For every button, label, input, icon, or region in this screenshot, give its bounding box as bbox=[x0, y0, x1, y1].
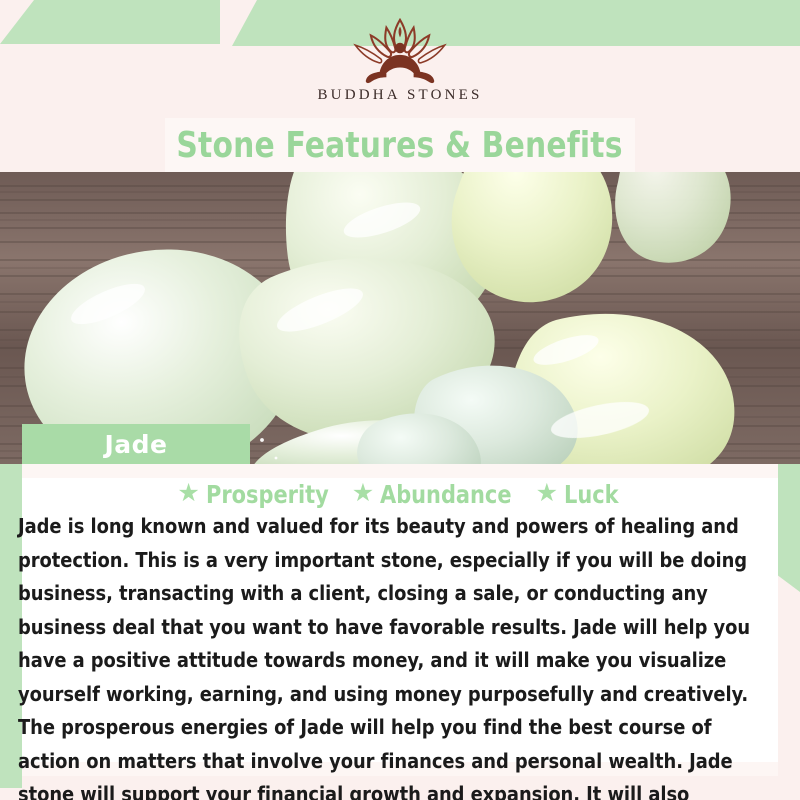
stone-name-label: Jade bbox=[104, 430, 167, 459]
infographic-page: BUDDHA STONES Stone Features & Benefits bbox=[0, 0, 800, 800]
stone-name-band: Jade bbox=[22, 424, 250, 464]
benefits-row: ★ Prosperity ★ Abundance ★ Luck bbox=[22, 478, 778, 510]
benefit-item-abundance: ★ Abundance bbox=[352, 480, 522, 509]
page-title: Stone Features & Benefits bbox=[177, 125, 623, 166]
benefit-item-prosperity: ★ Prosperity bbox=[177, 480, 337, 509]
header-banner: Stone Features & Benefits bbox=[165, 118, 635, 172]
brand-logo: BUDDHA STONES bbox=[0, 0, 800, 118]
stone-photo-image bbox=[0, 172, 800, 464]
benefit-label: Prosperity bbox=[206, 480, 329, 509]
lotus-meditation-icon bbox=[341, 14, 459, 84]
star-icon: ★ bbox=[352, 481, 374, 506]
benefit-item-luck: ★ Luck bbox=[536, 480, 623, 509]
brand-wordmark: BUDDHA STONES bbox=[317, 87, 482, 104]
star-icon: ★ bbox=[536, 481, 558, 506]
benefit-label: Luck bbox=[564, 480, 619, 509]
stone-photo bbox=[0, 172, 800, 464]
stone-description: Jade is long known and valued for its be… bbox=[18, 510, 763, 800]
star-icon: ★ bbox=[177, 481, 199, 506]
benefit-label: Abundance bbox=[380, 480, 512, 509]
